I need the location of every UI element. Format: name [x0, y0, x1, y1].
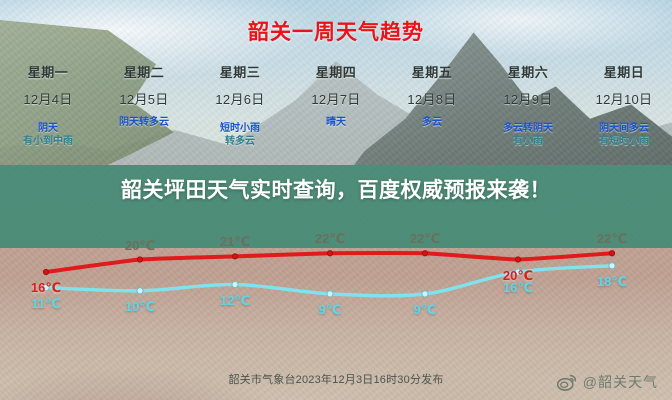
condition-line-1: 阴天: [0, 122, 96, 135]
condition-label: 短时小雨转多云: [192, 122, 288, 148]
forecast-day-1: 星期一12月4日阴天有小到中雨: [0, 62, 96, 148]
temperature-chart: 16℃20℃21℃22℃22℃20℃22℃11℃10℃12℃9℃9℃16℃18℃: [0, 225, 672, 365]
weekday-label: 星期四: [288, 62, 384, 81]
weekday-label: 星期日: [576, 62, 672, 81]
high-temp-label-7: 22℃: [597, 231, 627, 247]
date-label: 12月5日: [96, 89, 192, 108]
high-temp-point-1: [43, 269, 48, 274]
low-temp-label-2: 10℃: [125, 299, 155, 315]
low-temp-label-4: 9℃: [319, 302, 342, 318]
headline-text: 韶关坪田天气实时查询，百度权威预报来袭！: [0, 176, 672, 205]
weekday-label: 星期五: [384, 62, 480, 81]
condition-label: 阴天转多云: [96, 116, 192, 129]
forecast-day-6: 星期六12月9日多云转阴天有小雨: [480, 62, 576, 148]
low-temp-label-3: 12℃: [220, 293, 250, 309]
date-label: 12月10日: [576, 89, 672, 108]
high-temp-point-7: [609, 251, 614, 256]
weibo-handle: @韶关天气: [583, 372, 658, 392]
condition-label: 晴天: [288, 116, 384, 129]
weekday-label: 星期三: [192, 62, 288, 81]
high-temp-point-4: [327, 251, 332, 256]
condition-line-2: 转多云: [192, 135, 288, 148]
high-temp-point-2: [137, 257, 142, 262]
condition-line-2: 有短时小雨: [576, 135, 672, 148]
forecast-day-2: 星期二12月5日阴天转多云: [96, 62, 192, 148]
high-temp-point-5: [422, 251, 427, 256]
weibo-icon: [557, 374, 577, 391]
condition-line-2: 有小到中雨: [0, 135, 96, 148]
condition-line-2: 有小雨: [480, 135, 576, 148]
condition-label: 多云转阴天有小雨: [480, 122, 576, 148]
forecast-day-3: 星期三12月6日短时小雨转多云: [192, 62, 288, 148]
weekday-label: 星期二: [96, 62, 192, 81]
date-label: 12月8日: [384, 89, 480, 108]
low-temp-point-7: [609, 263, 615, 269]
forecast-day-7: 星期日12月10日阴天间多云有短时小雨: [576, 62, 672, 148]
low-temp-point-5: [422, 291, 428, 297]
low-temp-label-1: 11℃: [31, 296, 61, 312]
condition-label: 阴天有小到中雨: [0, 122, 96, 148]
low-temp-label-7: 18℃: [597, 274, 627, 290]
date-label: 12月9日: [480, 89, 576, 108]
high-temp-label-2: 20℃: [125, 238, 155, 254]
weibo-watermark: @韶关天气: [557, 372, 658, 392]
forecast-day-row: 星期一12月4日阴天有小到中雨星期二12月5日阴天转多云星期三12月6日短时小雨…: [0, 62, 672, 148]
high-temp-label-1: 16℃: [31, 280, 61, 296]
condition-line-1: 短时小雨: [192, 122, 288, 135]
condition-line-1: 多云转阴天: [480, 122, 576, 135]
forecast-day-4: 星期四12月7日晴天: [288, 62, 384, 148]
page-title: 韶关一周天气趋势: [0, 16, 672, 46]
high-temp-label-4: 22℃: [315, 231, 345, 247]
condition-line-1: 晴天: [288, 116, 384, 129]
weekday-label: 星期一: [0, 62, 96, 81]
condition-line-1: 多云: [384, 116, 480, 129]
high-temp-point-6: [515, 257, 520, 262]
low-temp-point-4: [327, 291, 333, 297]
high-temp-point-3: [232, 254, 237, 259]
condition-label: 多云: [384, 116, 480, 129]
date-label: 12月6日: [192, 89, 288, 108]
condition-line-1: 阴天转多云: [96, 116, 192, 129]
condition-line-1: 阴天间多云: [576, 122, 672, 135]
low-temp-label-5: 9℃: [414, 302, 437, 318]
low-temp-point-3: [232, 281, 238, 287]
weekday-label: 星期六: [480, 62, 576, 81]
condition-label: 阴天间多云有短时小雨: [576, 122, 672, 148]
low-temp-label-6: 16℃: [503, 280, 533, 296]
high-temp-label-3: 21℃: [220, 234, 250, 250]
high-temp-label-5: 22℃: [410, 231, 440, 247]
date-label: 12月4日: [0, 89, 96, 108]
low-temp-point-2: [137, 288, 143, 294]
forecast-day-5: 星期五12月8日多云: [384, 62, 480, 148]
date-label: 12月7日: [288, 89, 384, 108]
